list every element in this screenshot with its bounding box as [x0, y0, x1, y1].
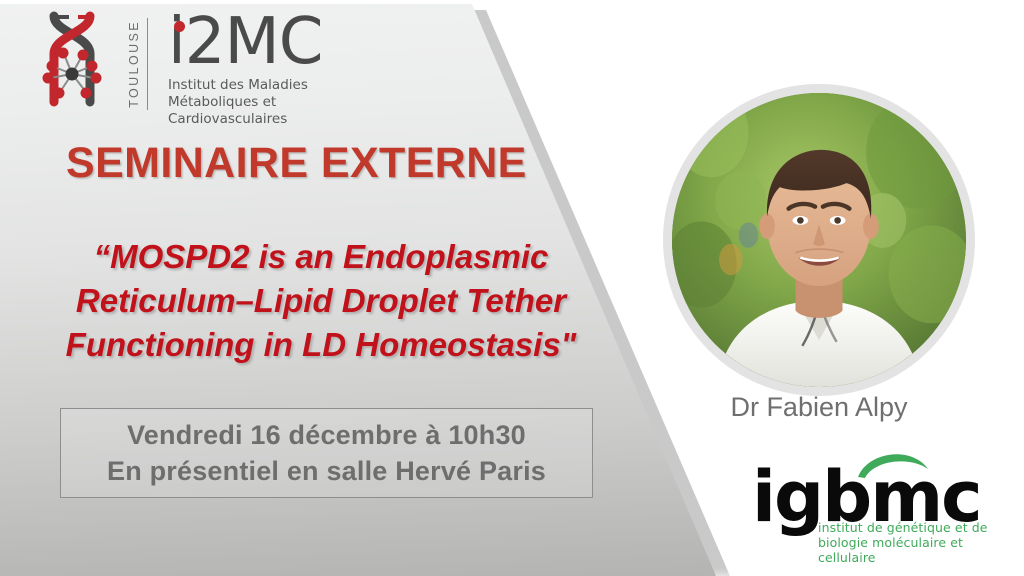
seminar-poster: TOULOUSE i2MC Institut des Maladies Méta… — [0, 0, 1024, 576]
toulouse-label: TOULOUSE — [128, 20, 141, 108]
talk-title: “MOSPD2 is an Endoplasmic Reticulum–Lipi… — [8, 235, 634, 367]
speaker-name: Dr Fabien Alpy — [643, 392, 995, 423]
date-line: Vendredi 16 décembre à 10h30 — [127, 417, 526, 453]
page-title: SEMINAIRE EXTERNE — [66, 139, 527, 188]
i2mc-logo: TOULOUSE i2MC Institut des Maladies Méta… — [24, 8, 394, 112]
speaker-portrait — [663, 84, 975, 396]
igbmc-logo: igbmc institut de génétique et de biolog… — [752, 448, 1006, 560]
i2mc-wordmark-text: i2MC — [168, 5, 322, 79]
toulouse-divider — [147, 18, 148, 110]
portrait-photo — [672, 93, 966, 387]
i2mc-wordmark: i2MC — [168, 8, 394, 76]
i2mc-subtitle: Institut des Maladies Métaboliques et Ca… — [168, 77, 394, 128]
toulouse-label-group: TOULOUSE — [128, 16, 148, 112]
igbmc-tagline: institut de génétique et de biologie mol… — [818, 520, 1006, 565]
dna-helix-network-icon — [24, 10, 120, 108]
i2mc-red-dot-icon — [174, 21, 185, 32]
venue-line: En présentiel en salle Hervé Paris — [107, 453, 546, 489]
i2mc-text-group: i2MC Institut des Maladies Métaboliques … — [168, 8, 394, 128]
date-venue-box: Vendredi 16 décembre à 10h30 En présenti… — [60, 408, 593, 498]
